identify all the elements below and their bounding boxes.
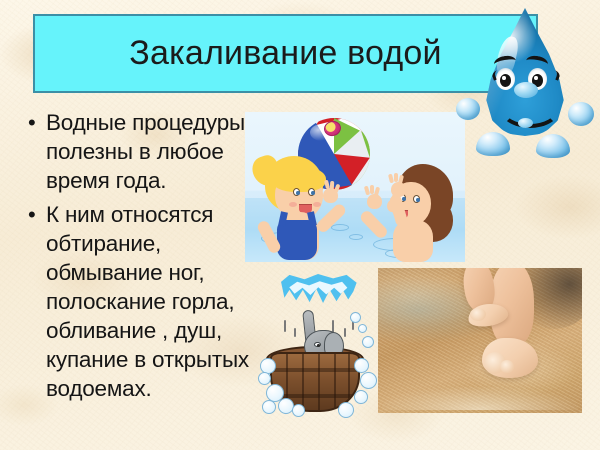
- boy-finger: [394, 173, 398, 182]
- slide-canvas: Закаливание водой • Водные процедуры пол…: [0, 0, 600, 450]
- boy-hand: [367, 194, 382, 209]
- rain-drop: [284, 320, 286, 332]
- bullet-line: водоемах.: [46, 374, 249, 403]
- bullet-line: Водные процедуры: [46, 108, 245, 137]
- girl-finger: [334, 184, 341, 194]
- drop-chin-droplet: [518, 118, 533, 128]
- photo-foam: [382, 387, 578, 410]
- soap-bubble: [258, 372, 271, 385]
- girl-eye: [293, 188, 300, 196]
- girl-hair-fringe: [272, 166, 326, 192]
- child-toes: [470, 308, 486, 321]
- bullet-line: купание в открытых: [46, 345, 249, 374]
- bullet-item-1: • Водные процедуры полезны в любое время…: [28, 108, 264, 195]
- bullet-line: полезны в любое: [46, 137, 245, 166]
- girl-eye: [308, 188, 315, 196]
- soap-bubble: [338, 402, 354, 418]
- bullet-line: время года.: [46, 166, 245, 195]
- bullet-text-1: Водные процедуры полезны в любое время г…: [46, 108, 245, 195]
- bullet-text-2: К ним относятся обтирание, обмывание ног…: [46, 200, 249, 403]
- tub-stave: [318, 354, 320, 410]
- soap-bubble: [354, 358, 369, 373]
- soap-bubble: [360, 372, 377, 389]
- bullet-line: обмывание ног,: [46, 258, 249, 287]
- tub-hoop: [270, 368, 360, 372]
- boy-eye: [413, 195, 420, 203]
- bullet-marker: •: [28, 108, 46, 137]
- elephant-showering-in-wooden-tub-image: [258, 272, 376, 415]
- girl-cheek: [289, 202, 297, 207]
- soap-bubble: [262, 400, 276, 414]
- soap-bubble: [358, 324, 367, 333]
- droplet-foot: [476, 132, 510, 156]
- boy-arm: [358, 209, 389, 240]
- soap-bubble: [354, 390, 368, 404]
- tub-stave: [334, 354, 336, 410]
- bullet-item-2: • К ним относятся обтирание, обмывание н…: [28, 200, 264, 403]
- bullet-line: обливание , душ,: [46, 316, 249, 345]
- child-bare-feet-in-shallow-water-photo: [378, 268, 582, 413]
- soap-bubble: [292, 404, 305, 417]
- children-playing-ball-in-water-image: [245, 112, 465, 262]
- child-toes: [500, 360, 514, 373]
- bullet-line: полоскание горла,: [46, 287, 249, 316]
- side-bubble: [568, 102, 594, 126]
- tub-stave: [302, 354, 304, 410]
- soap-bubble: [362, 336, 374, 348]
- bullet-line: К ним относятся: [46, 200, 249, 229]
- boy-figure: [363, 164, 459, 262]
- droplet-foot: [536, 134, 570, 158]
- elephant-eye: [314, 342, 321, 347]
- bullet-list: • Водные процедуры полезны в любое время…: [28, 108, 264, 408]
- side-bubble: [456, 98, 480, 120]
- girl-figure: [255, 152, 341, 260]
- soap-bubble: [350, 312, 361, 323]
- bullet-line: обтирание,: [46, 229, 249, 258]
- water-ripple: [349, 234, 363, 240]
- bullet-marker: •: [28, 200, 46, 229]
- boy-hand: [391, 182, 406, 197]
- girl-cheek: [313, 202, 321, 207]
- smiling-water-drop-mascot: [452, 6, 600, 178]
